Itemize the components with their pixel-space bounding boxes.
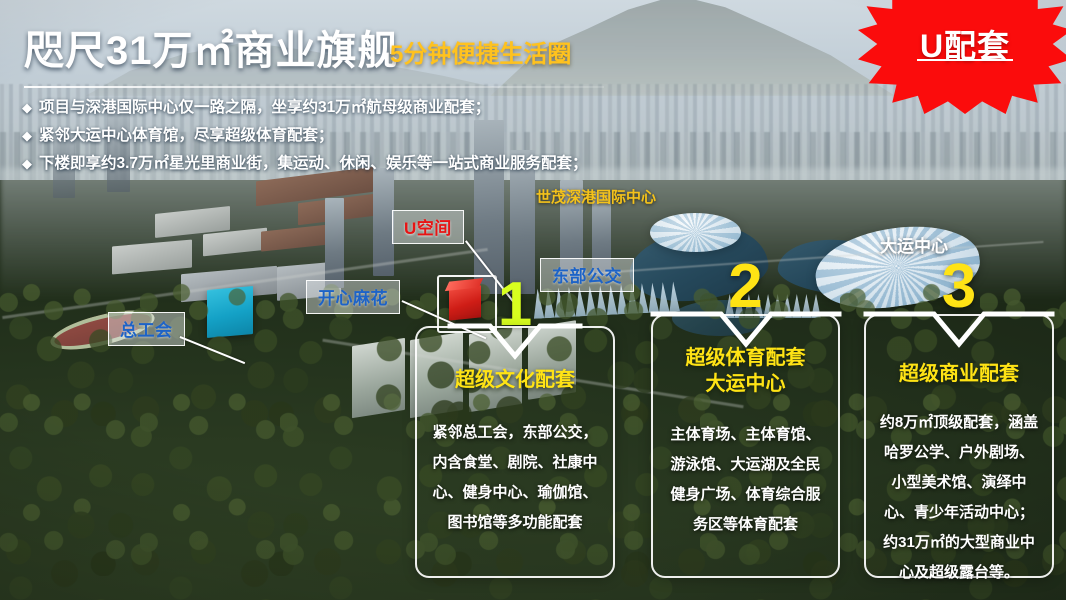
map-label-dayun-centre: 大运中心 — [880, 232, 948, 257]
bullet-text: 下楼即享约3.7万㎡星光里商业街，集运动、休闲、娱乐等一站式商业服务配套； — [39, 154, 588, 173]
panel-title-3: 超级商业配套 — [872, 362, 1046, 388]
map-label-kaixin-mahua[interactable]: 开心麻花 — [306, 280, 400, 314]
map-label-zonggonghui-text: 总工会 — [108, 312, 185, 346]
bullet-text: 紧邻大运中心体育馆，尽享超级体育配套； — [39, 126, 334, 145]
map-label-u-space[interactable]: U空间 — [392, 210, 464, 244]
panel-title-2-line2: 大运中心 — [706, 373, 786, 395]
map-label-dongbu-gongjiao[interactable]: 东部公交 — [540, 258, 634, 292]
map-label-u-space-text: U空间 — [392, 210, 464, 244]
bullet-list: ◆ 项目与深港国际中心仅一路之隔，坐享约31万㎡航母级商业配套； ◆ 紧邻大运中… — [22, 98, 662, 182]
panel-chevron-notch — [450, 310, 580, 366]
diamond-bullet-icon: ◆ — [22, 98, 32, 117]
page-title-unit: ㎡ — [194, 29, 235, 73]
map-label-zonggonghui[interactable]: 总工会 — [108, 312, 185, 346]
panel-body-3: 约8万㎡顶级配套，涵盖哈罗公学、户外剧场、小型美术馆、演绎中心、青少年活动中心；… — [878, 408, 1040, 588]
info-panel-2[interactable]: 2 超级体育配套 大运中心 主体育场、主体育馆、游泳馆、大运湖及全民健身广场、体… — [651, 280, 840, 578]
diamond-bullet-icon: ◆ — [22, 126, 32, 145]
panel-body-1: 紧邻总工会，东部公交，内含食堂、剧院、社康中心、健身中心、瑜伽馆、图书馆等多功能… — [429, 418, 601, 538]
map-label-dongbu-gongjiao-text: 东部公交 — [540, 258, 634, 292]
badge-underline — [917, 59, 1013, 61]
info-panel-1[interactable]: 1 超级文化配套 紧邻总工会，东部公交，内含食堂、剧院、社康中心、健身中心、瑜伽… — [415, 292, 615, 578]
panel-title-1: 超级文化配套 — [423, 368, 607, 394]
page-title-main: 咫尺31万 — [24, 29, 194, 73]
diamond-bullet-icon: ◆ — [22, 154, 32, 173]
panel-chevron-notch — [894, 298, 1024, 354]
bullet-item: ◆ 下楼即享约3.7万㎡星光里商业街，集运动、休闲、娱乐等一站式商业服务配套； — [22, 154, 662, 173]
panel-title-2-line1: 超级体育配套 — [686, 347, 806, 369]
aquatics-centre-dome — [650, 213, 741, 252]
slide-canvas: 咫尺31万㎡商业旗舰 5分钟便捷生活圈 ◆ 项目与深港国际中心仅一路之隔，坐享约… — [0, 0, 1066, 600]
bullet-text: 项目与深港国际中心仅一路之隔，坐享约31万㎡航母级商业配套； — [39, 98, 490, 117]
page-subtitle: 5分钟便捷生活圈 — [390, 34, 571, 69]
map-label-kaixin-mahua-text: 开心麻花 — [306, 280, 400, 314]
info-panel-3[interactable]: 3 超级商业配套 约8万㎡顶级配套，涵盖哈罗公学、户外剧场、小型美术馆、演绎中心… — [864, 280, 1054, 578]
bullet-item: ◆ 项目与深港国际中心仅一路之隔，坐享约31万㎡航母级商业配套； — [22, 98, 662, 117]
u-facility-starburst-badge: U配套 — [858, 0, 1066, 114]
page-title-tail: 商业旗舰 — [235, 29, 399, 73]
office-tower-d — [325, 198, 344, 288]
panel-title-2: 超级体育配套 大运中心 — [659, 346, 832, 397]
header-divider — [24, 86, 604, 88]
panel-body-2: 主体育场、主体育馆、游泳馆、大运湖及全民健身广场、体育综合服务区等体育配套 — [665, 420, 826, 540]
map-label-shimao-centre: 世茂深港国际中心 — [536, 186, 656, 207]
bullet-item: ◆ 紧邻大运中心体育馆，尽享超级体育配套； — [22, 126, 662, 145]
page-title: 咫尺31万㎡商业旗舰 — [24, 18, 399, 76]
